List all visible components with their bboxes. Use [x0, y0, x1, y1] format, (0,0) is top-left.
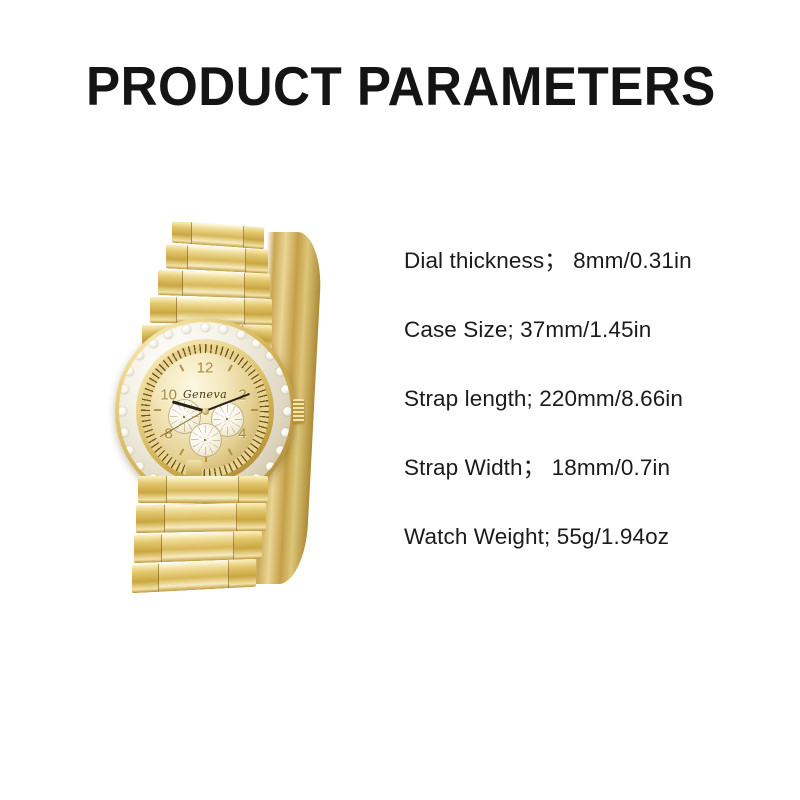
- bracelet-link: [134, 531, 262, 563]
- watch-crown: [293, 399, 304, 423]
- bracelet-lower: [108, 460, 318, 597]
- dial-tick: [179, 364, 184, 371]
- dial-tick: [154, 409, 161, 411]
- bracelet-link: [136, 503, 266, 533]
- hand-center-cap: [202, 408, 209, 415]
- subdial-bottom: [189, 423, 222, 458]
- dial-tick: [228, 364, 233, 371]
- bracelet-link: [158, 270, 270, 299]
- product-image-watch: 12 2 4 8 10 Geneva: [108, 222, 318, 597]
- spec-row-case-size: Case Size; 37mm/1.45in: [404, 317, 774, 386]
- watch-dial: 12 2 4 8 10 Geneva: [150, 353, 260, 469]
- spec-row-watch-weight: Watch Weight; 55g/1.94oz: [404, 524, 774, 593]
- chapter-ring: 12 2 4 8 10 Geneva: [141, 344, 269, 478]
- spec-row-strap-width: Strap Width； 18mm/0.7in: [404, 455, 774, 524]
- bracelet-link: [138, 476, 268, 503]
- page-title: PRODUCT PARAMETERS: [86, 58, 716, 116]
- dial-tick: [251, 409, 258, 411]
- bracelet-link: [132, 559, 256, 593]
- spec-row-dial-thickness: Dial thickness； 8mm/0.31in: [404, 248, 774, 317]
- dial-numeral: 12: [197, 360, 214, 377]
- bracelet-link: [166, 244, 268, 273]
- specification-list: Dial thickness； 8mm/0.31in Case Size; 37…: [404, 248, 774, 593]
- dial-tick: [228, 448, 233, 455]
- spec-row-strap-length: Strap length; 220mm/8.66in: [404, 386, 774, 455]
- dial-tick: [179, 448, 184, 455]
